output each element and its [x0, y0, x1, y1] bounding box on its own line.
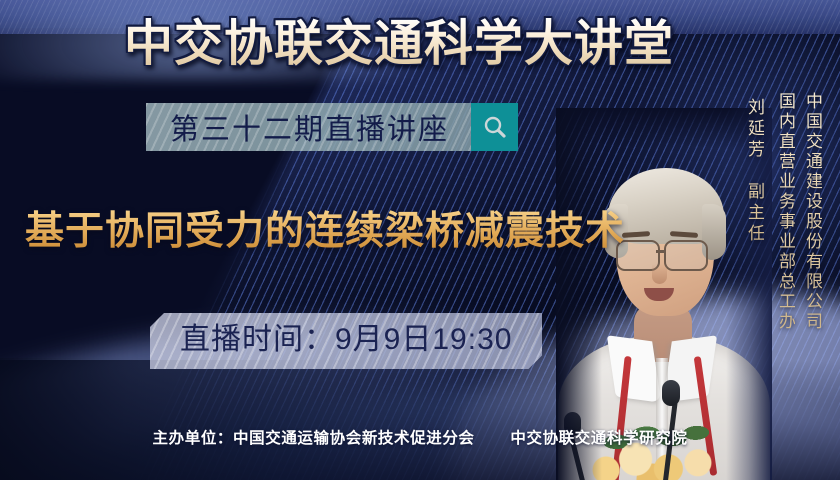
live-time-text: 直播时间：9月9日19:30 [180, 323, 512, 356]
lecture-topic-title: 基于协同受力的连续梁桥减震技术 [25, 209, 625, 255]
speaker-name-title: 刘延芳 副主任 [744, 98, 764, 245]
episode-label: 第三十二期直播讲座 [170, 106, 449, 148]
episode-banner-background: 第三十二期直播讲座 [146, 103, 471, 151]
footer-organizer-primary: 主办单位：中国交通运输协会新技术促进分会 [153, 430, 475, 447]
speaker-department: 国内直营业务事业部总工办 [775, 92, 795, 332]
search-button[interactable] [471, 103, 518, 151]
footer-organizers: 主办单位：中国交通运输协会新技术促进分会 中交协联交通科学研究院 [0, 426, 840, 448]
speaker-nose [652, 264, 667, 284]
microphone-head-center [662, 380, 680, 406]
footer-organizer-secondary: 中交协联交通科学研究院 [510, 430, 687, 447]
background-bottom-left-shade [0, 360, 462, 480]
speaker-glasses-bridge [656, 250, 666, 253]
live-time-badge: 直播时间：9月9日19:30 [150, 313, 542, 369]
speaker-photo [556, 108, 772, 480]
search-icon [482, 114, 508, 140]
live-lecture-poster: 中交协联交通科学大讲堂 第三十二期直播讲座 基于协同受力的连续梁桥减震技术 直播… [0, 0, 840, 480]
page-title: 中交协联交通科学大讲堂 [124, 17, 674, 71]
photo-left-fade [556, 108, 602, 480]
speaker-glasses-right-lens [664, 240, 708, 271]
speaker-company: 中国交通建设股份有限公司 [802, 92, 822, 332]
episode-banner: 第三十二期直播讲座 [146, 103, 518, 151]
